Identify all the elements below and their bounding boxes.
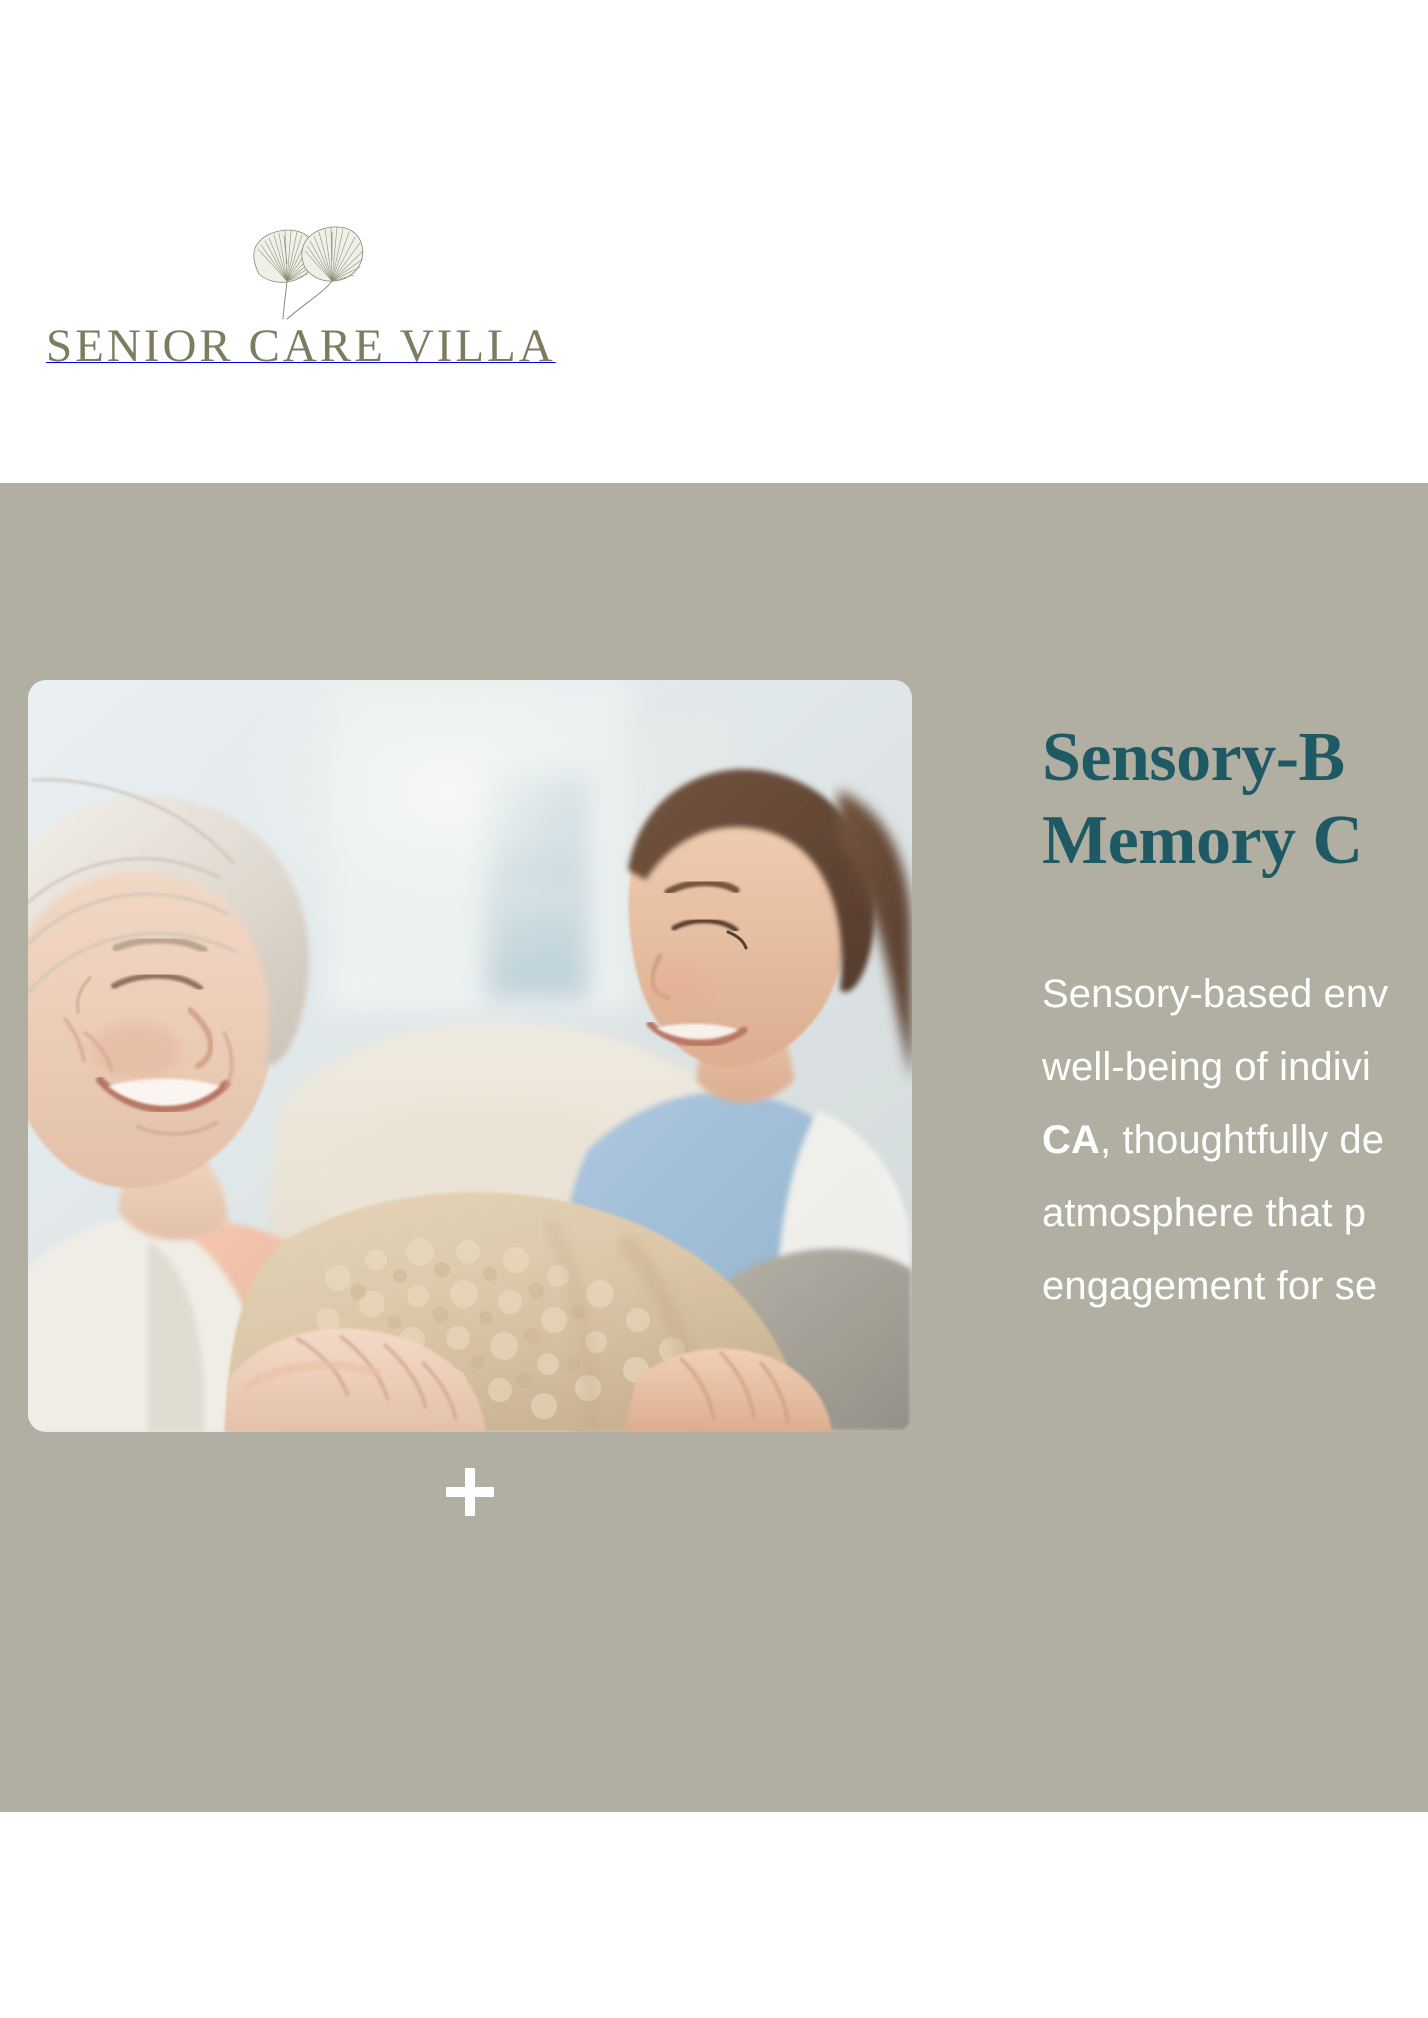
body-line-1: Sensory-based env: [1042, 958, 1428, 1031]
body-line-4: atmosphere that p: [1042, 1177, 1428, 1250]
brand-wordmark: SENIOR CARE VILLA: [46, 320, 556, 372]
site-header: SENIOR CARE VILLA: [0, 0, 1428, 483]
hero-media-column: [28, 680, 912, 1552]
body-line-3-rest: , thoughtfully de: [1100, 1118, 1384, 1162]
body-emphasis-ca: CA: [1042, 1118, 1100, 1162]
feature-photo: [28, 680, 912, 1432]
ginkgo-leaf-icon: [46, 222, 546, 322]
body-line-3: CA, thoughtfully de: [1042, 1104, 1428, 1177]
expand-card-button[interactable]: [28, 1432, 912, 1552]
heading-line-2: Memory C: [1042, 802, 1363, 879]
page-root: SENIOR CARE VILLA: [0, 0, 1428, 2018]
hero-copy-column: Sensory-B Memory C Sensory-based env wel…: [1042, 717, 1428, 1323]
body-line-2: well-being of indivi: [1042, 1031, 1428, 1104]
section-body: Sensory-based env well-being of indivi C…: [1042, 958, 1428, 1323]
section-heading: Sensory-B Memory C: [1042, 717, 1428, 882]
brand-logo-link[interactable]: SENIOR CARE VILLA: [46, 222, 546, 371]
heading-line-1: Sensory-B: [1042, 719, 1345, 796]
plus-icon: [446, 1468, 494, 1516]
body-line-5: engagement for se: [1042, 1250, 1428, 1323]
hero-section: Sensory-B Memory C Sensory-based env wel…: [0, 483, 1428, 1812]
